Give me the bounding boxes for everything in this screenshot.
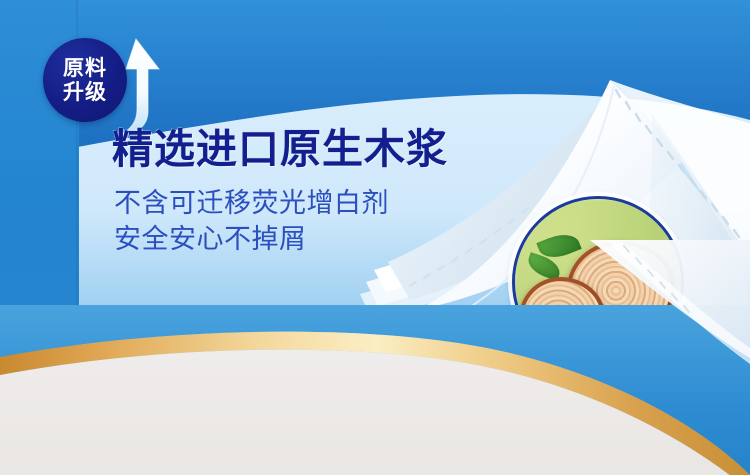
tissue-edge-lower-right — [520, 240, 750, 440]
badge-line-1: 原料 — [63, 58, 107, 79]
badge-circle: 原料 升级 — [43, 38, 127, 122]
page-title: 精选进口原生木浆 — [112, 126, 448, 172]
badge-line-2: 升级 — [63, 82, 107, 103]
promo-banner: 原料 升级 精选进口原生木浆 不含可迁移荧光增白剂 安全安心不掉屑 — [0, 0, 750, 475]
upgrade-badge: 原料 升级 — [43, 38, 193, 128]
subheading-2: 安全安心不掉屑 — [114, 222, 307, 256]
subheading-1: 不含可迁移荧光增白剂 — [114, 186, 389, 220]
